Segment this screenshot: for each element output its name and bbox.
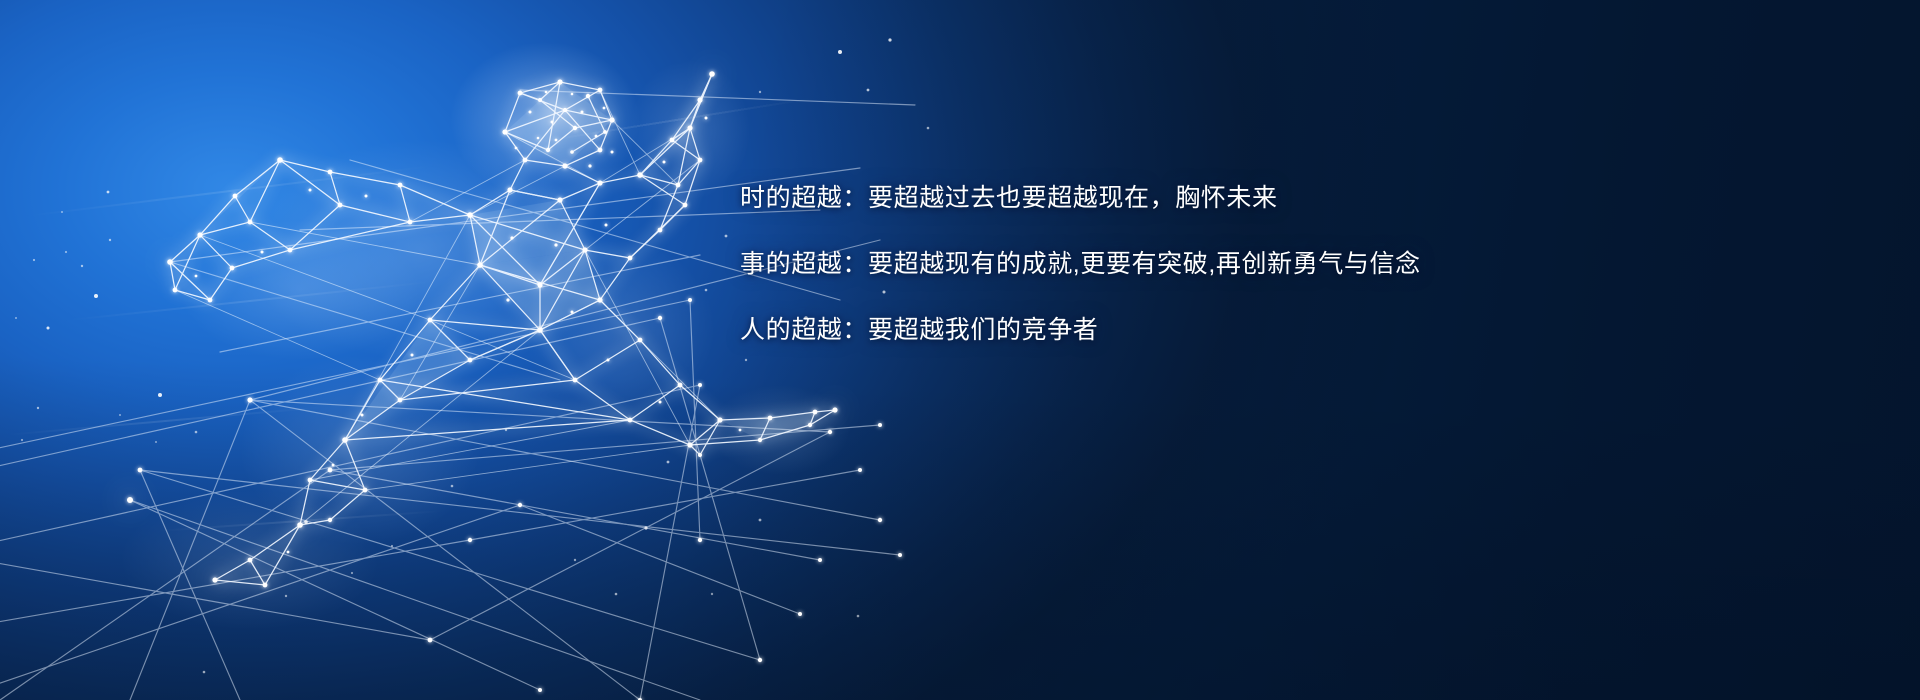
banner-root: 时的超越：要超越过去也要超越现在，胸怀未来 事的超越：要超越现有的成就,更要有突… [0,0,1920,700]
network-runner-illustration [0,0,1920,700]
slogan-line-time: 时的超越：要超越过去也要超越现在，胸怀未来 [740,186,1500,211]
slogan-line-people: 人的超越：要超越我们的竞争者 [740,318,1500,343]
slogan-text-block: 时的超越：要超越过去也要超越现在，胸怀未来 事的超越：要超越现有的成就,更要有突… [740,186,1500,343]
slogan-line-matter: 事的超越：要超越现有的成就,更要有突破,再创新勇气与信念 [740,252,1500,277]
